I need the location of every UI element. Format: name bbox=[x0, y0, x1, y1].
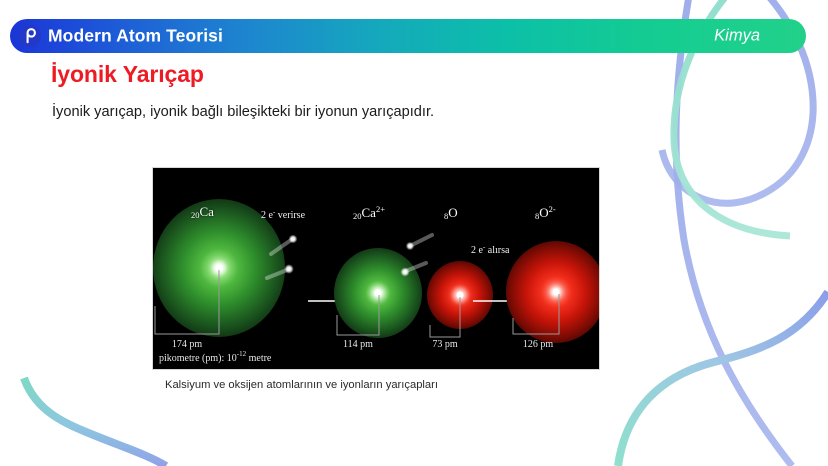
label-calcium-atom-symbol: Ca bbox=[200, 204, 214, 219]
footnote-unit: metre bbox=[246, 353, 271, 364]
deco-curve-bottom-left bbox=[24, 378, 166, 466]
page-title: İyonik Yarıçap bbox=[51, 61, 204, 88]
label-oxygen-ion-symbol: O bbox=[539, 205, 548, 220]
label-calcium-atom-number: 20 bbox=[191, 210, 200, 220]
header-subject-label: Kimya bbox=[714, 27, 760, 46]
label-oxygen-atom-symbol: O bbox=[448, 205, 457, 220]
figure-container: 20Ca 174 pm bbox=[152, 167, 600, 370]
definition-paragraph: İyonik yarıçap, iyonik bağlı bileşikteki… bbox=[52, 104, 434, 120]
radius-label-oxygen-atom: 73 pm bbox=[432, 339, 457, 350]
radius-label-oxygen-ion: 126 pm bbox=[523, 339, 553, 350]
label-calcium-ion-charge: 2+ bbox=[376, 204, 385, 214]
slide-root: Modern Atom Teorisi Kimya İyonik Yarıçap… bbox=[0, 0, 828, 466]
figure-caption: Kalsiyum ve oksijen atomlarının ve iyonl… bbox=[165, 379, 438, 391]
label-oxygen-ion: 8O2- bbox=[535, 204, 556, 221]
process-label-lose-electrons: 2 e- verirse bbox=[261, 208, 305, 221]
footnote-exponent: -12 bbox=[237, 350, 246, 358]
p-logo-icon bbox=[19, 25, 41, 47]
label-calcium-ion-number: 20 bbox=[353, 211, 362, 221]
deco-curve-right-blue bbox=[676, 0, 792, 466]
figure-footnote: pikometre (pm): 10-12 metre bbox=[159, 350, 271, 364]
process-lose-suffix: verirse bbox=[275, 210, 305, 221]
measure-bracket-oxygen-ion bbox=[511, 292, 600, 367]
deco-curve-bottom-right bbox=[618, 292, 828, 466]
label-calcium-ion-symbol: Ca bbox=[362, 205, 376, 220]
process-gain-prefix: 2 e bbox=[471, 245, 483, 256]
label-calcium-ion: 20Ca2+ bbox=[353, 204, 385, 221]
label-oxygen-atom: 8O bbox=[444, 205, 458, 221]
label-oxygen-ion-charge: 2- bbox=[549, 204, 556, 214]
process-lose-prefix: 2 e bbox=[261, 210, 273, 221]
footnote-prefix: pikometre (pm): 10 bbox=[159, 353, 237, 364]
measure-bracket-calcium-ion bbox=[335, 293, 435, 368]
process-gain-suffix: alırsa bbox=[485, 245, 509, 256]
figure-image-panel: 20Ca 174 pm bbox=[152, 167, 600, 370]
label-calcium-atom: 20Ca bbox=[191, 204, 214, 220]
process-label-gain-electrons: 2 e- alırsa bbox=[471, 243, 509, 256]
header-bar: Modern Atom Teorisi Kimya bbox=[10, 19, 806, 53]
radius-label-calcium-ion: 114 pm bbox=[343, 339, 373, 350]
header-title: Modern Atom Teorisi bbox=[48, 26, 223, 47]
radius-label-calcium-atom: 174 pm bbox=[172, 339, 202, 350]
